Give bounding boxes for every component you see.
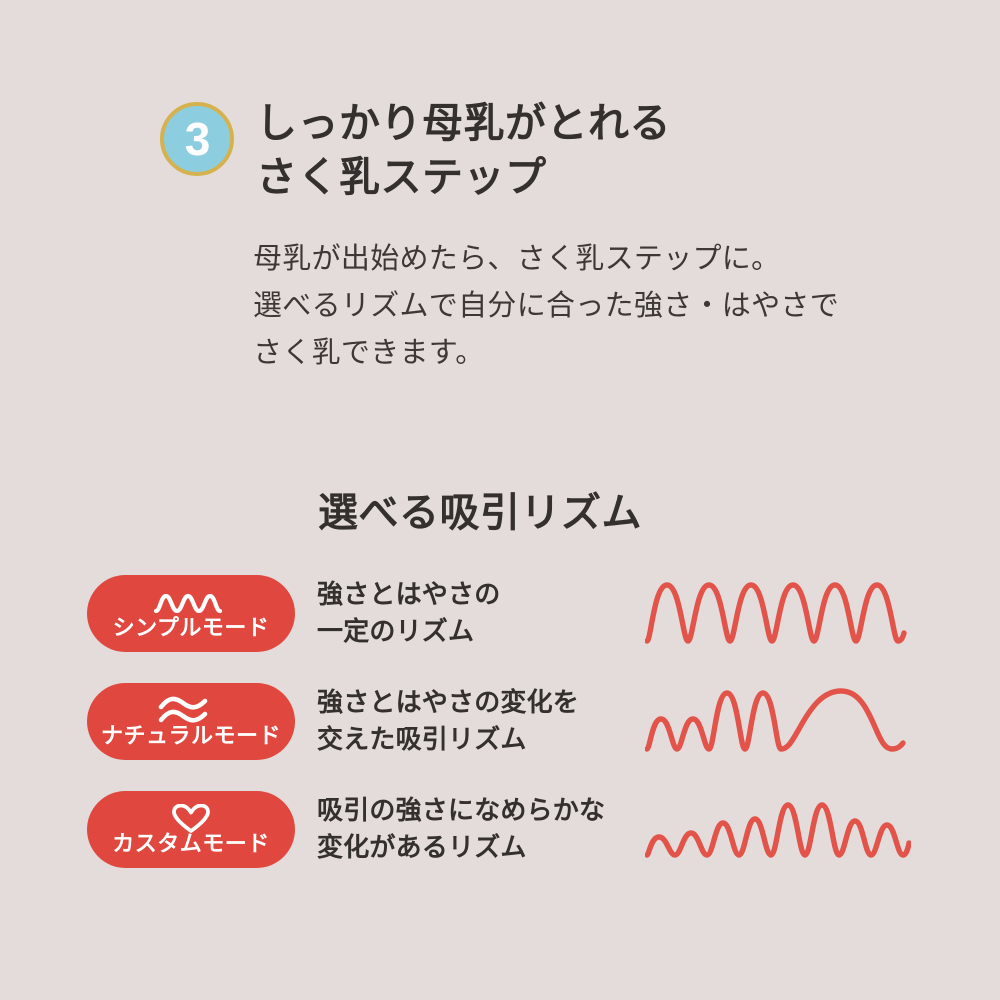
mode-description-line-1: 吸引の強さになめらかな (317, 792, 637, 829)
mode-description-simple: 強さとはやさの 一定のリズム (317, 576, 637, 650)
zigzag-wave-icon (153, 590, 229, 616)
step-title-line-2: さく乳ステップ (256, 150, 671, 204)
step-description-line-2: 選べるリズムで自分に合った強さ・はやさで (253, 283, 953, 330)
double-wave-icon (153, 698, 229, 724)
heart-outline-icon (171, 806, 211, 832)
mode-pill-label: シンプルモード (113, 617, 270, 639)
mode-description-line-2: 一定のリズム (317, 613, 637, 650)
step-title: しっかり母乳がとれる さく乳ステップ (256, 96, 671, 204)
step-header: 3 しっかり母乳がとれる さく乳ステップ (160, 96, 920, 204)
mode-description-line-2: 変化があるリズム (317, 829, 637, 866)
rhythm-mode-row: シンプルモード 強さとはやさの 一定のリズム (0, 570, 1000, 656)
mode-pill-natural[interactable]: ナチュラルモード (87, 683, 295, 760)
constant-rhythm-waveform (645, 570, 915, 656)
rhythm-mode-row: カスタムモード 吸引の強さになめらかな 変化があるリズム (0, 786, 1000, 872)
rhythm-section: 選べる吸引リズム シンプルモード 強さとはやさの 一定のリズム (0, 480, 1000, 894)
step-description-line-1: 母乳が出始めたら、さく乳ステップに。 (253, 236, 953, 283)
step-number-badge: 3 (160, 102, 234, 176)
mode-description-natural: 強さとはやさの変化を 交えた吸引リズム (317, 684, 637, 758)
rhythm-section-heading: 選べる吸引リズム (318, 480, 1000, 538)
step-title-line-1: しっかり母乳がとれる (256, 96, 671, 150)
mode-pill-label: カスタムモード (112, 833, 270, 855)
rhythm-mode-row: ナチュラルモード 強さとはやさの変化を 交えた吸引リズム (0, 678, 1000, 764)
mode-pill-label: ナチュラルモード (101, 725, 281, 747)
mode-pill-simple[interactable]: シンプルモード (87, 575, 295, 652)
step-description-line-3: さく乳できます。 (253, 330, 953, 377)
varying-rhythm-waveform (645, 678, 915, 764)
mode-pill-custom[interactable]: カスタムモード (87, 791, 295, 868)
mode-description-line-1: 強さとはやさの変化を (317, 684, 637, 721)
mode-description-line-2: 交えた吸引リズム (317, 721, 637, 758)
smooth-change-waveform (645, 786, 915, 872)
rhythm-mode-list: シンプルモード 強さとはやさの 一定のリズム (0, 570, 1000, 872)
mode-description-custom: 吸引の強さになめらかな 変化があるリズム (317, 792, 637, 866)
step-number-text: 3 (185, 116, 210, 162)
step-description: 母乳が出始めたら、さく乳ステップに。 選べるリズムで自分に合った強さ・はやさで … (253, 236, 953, 377)
mode-description-line-1: 強さとはやさの (317, 576, 637, 613)
